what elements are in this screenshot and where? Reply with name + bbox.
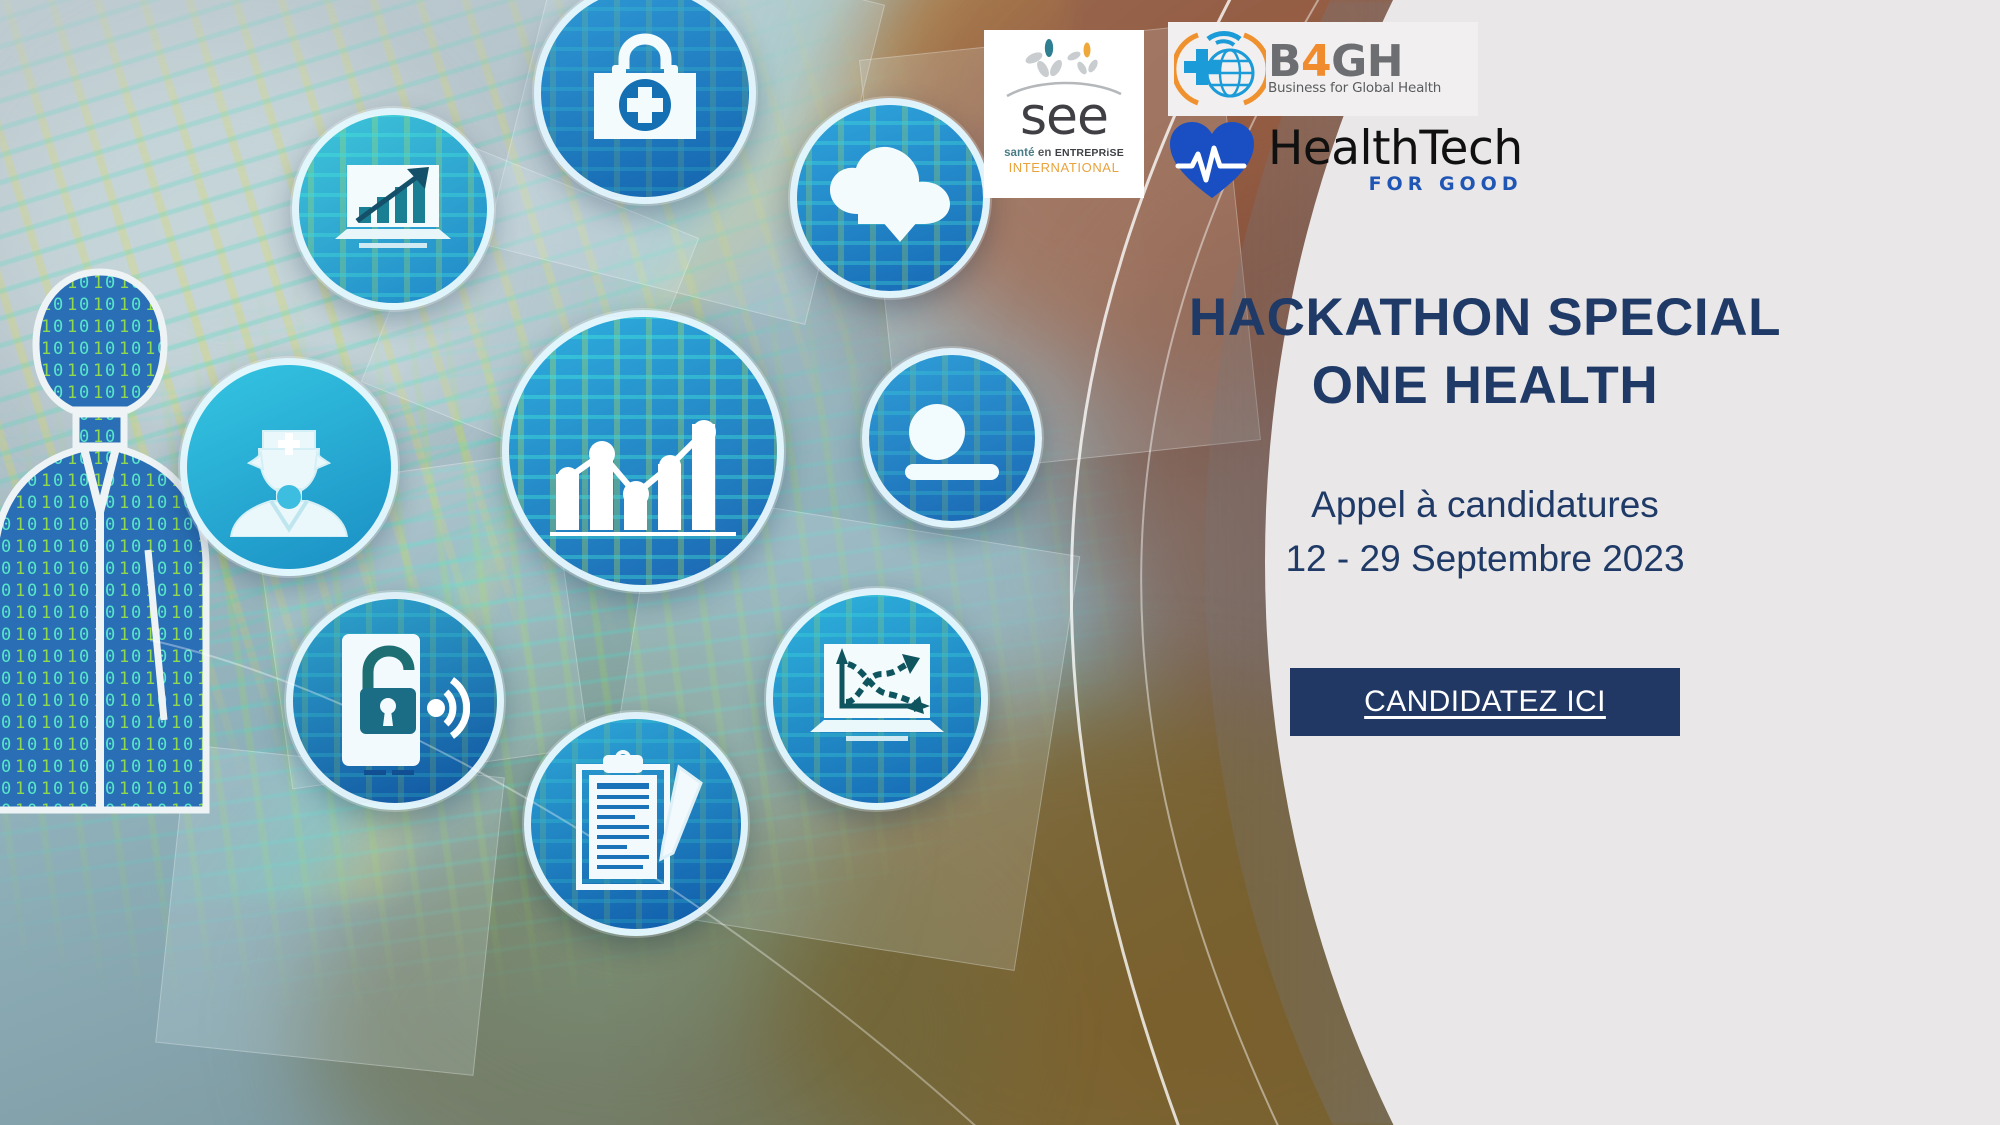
b4gh-tagline: Business for Global Health <box>1268 80 1441 96</box>
see-wordmark: see <box>1020 96 1108 140</box>
healthtech-wordmark: HealthTech <box>1268 125 1523 172</box>
cta-container: CANDIDATEZ ICI <box>970 668 2000 736</box>
see-tagline-international: INTERNATIONAL <box>1009 160 1120 175</box>
logo-see: see santé en ENTREPRiSE INTERNATIONAL <box>984 30 1144 198</box>
healthtech-tagline: FOR GOOD <box>1268 173 1523 195</box>
mobile-security-icon <box>286 592 504 810</box>
cloud-sync-icon <box>790 98 990 298</box>
clipboard-pencil-icon <box>524 712 748 936</box>
partial-icon-bubble <box>862 348 1042 528</box>
logo-healthtech: HealthTech FOR GOOD <box>1166 112 1566 208</box>
bar-line-chart-icon <box>502 310 784 592</box>
see-tagline: santé en ENTREPRiSE <box>1004 147 1124 159</box>
page-title: HACKATHON SPECIAL ONE HEALTH <box>970 284 2000 420</box>
subtitle-line-2: 12 - 29 Septembre 2023 <box>970 532 2000 586</box>
panel-content: see santé en ENTREPRiSE INTERNATIONAL B4… <box>970 0 2000 1125</box>
poster-canvas: 1 0 <box>0 0 2000 1125</box>
first-aid-kit-icon <box>534 0 756 204</box>
subtitle-line-1: Appel à candidatures <box>970 478 2000 532</box>
headline-line-2: ONE HEALTH <box>1010 352 1960 420</box>
laptop-growth-chart-icon <box>292 108 494 310</box>
b4gh-text: B4GH Business for Global Health <box>1268 42 1441 96</box>
laptop-analytics-icon <box>766 588 988 810</box>
apply-button-label: CANDIDATEZ ICI <box>1364 685 1606 718</box>
b4gh-wordmark: B4GH <box>1268 42 1441 82</box>
logo-b4gh: B4GH Business for Global Health <box>1168 22 1478 116</box>
heart-pulse-icon <box>1166 118 1258 202</box>
subtitle: Appel à candidatures 12 - 29 Septembre 2… <box>970 478 2000 585</box>
see-petals-icon <box>1016 38 1112 80</box>
headline-line-1: HACKATHON SPECIAL <box>1189 288 1781 347</box>
b4gh-globe-icon <box>1174 25 1266 113</box>
healthtech-text: HealthTech FOR GOOD <box>1268 125 1523 195</box>
apply-button[interactable]: CANDIDATEZ ICI <box>1290 668 1680 736</box>
